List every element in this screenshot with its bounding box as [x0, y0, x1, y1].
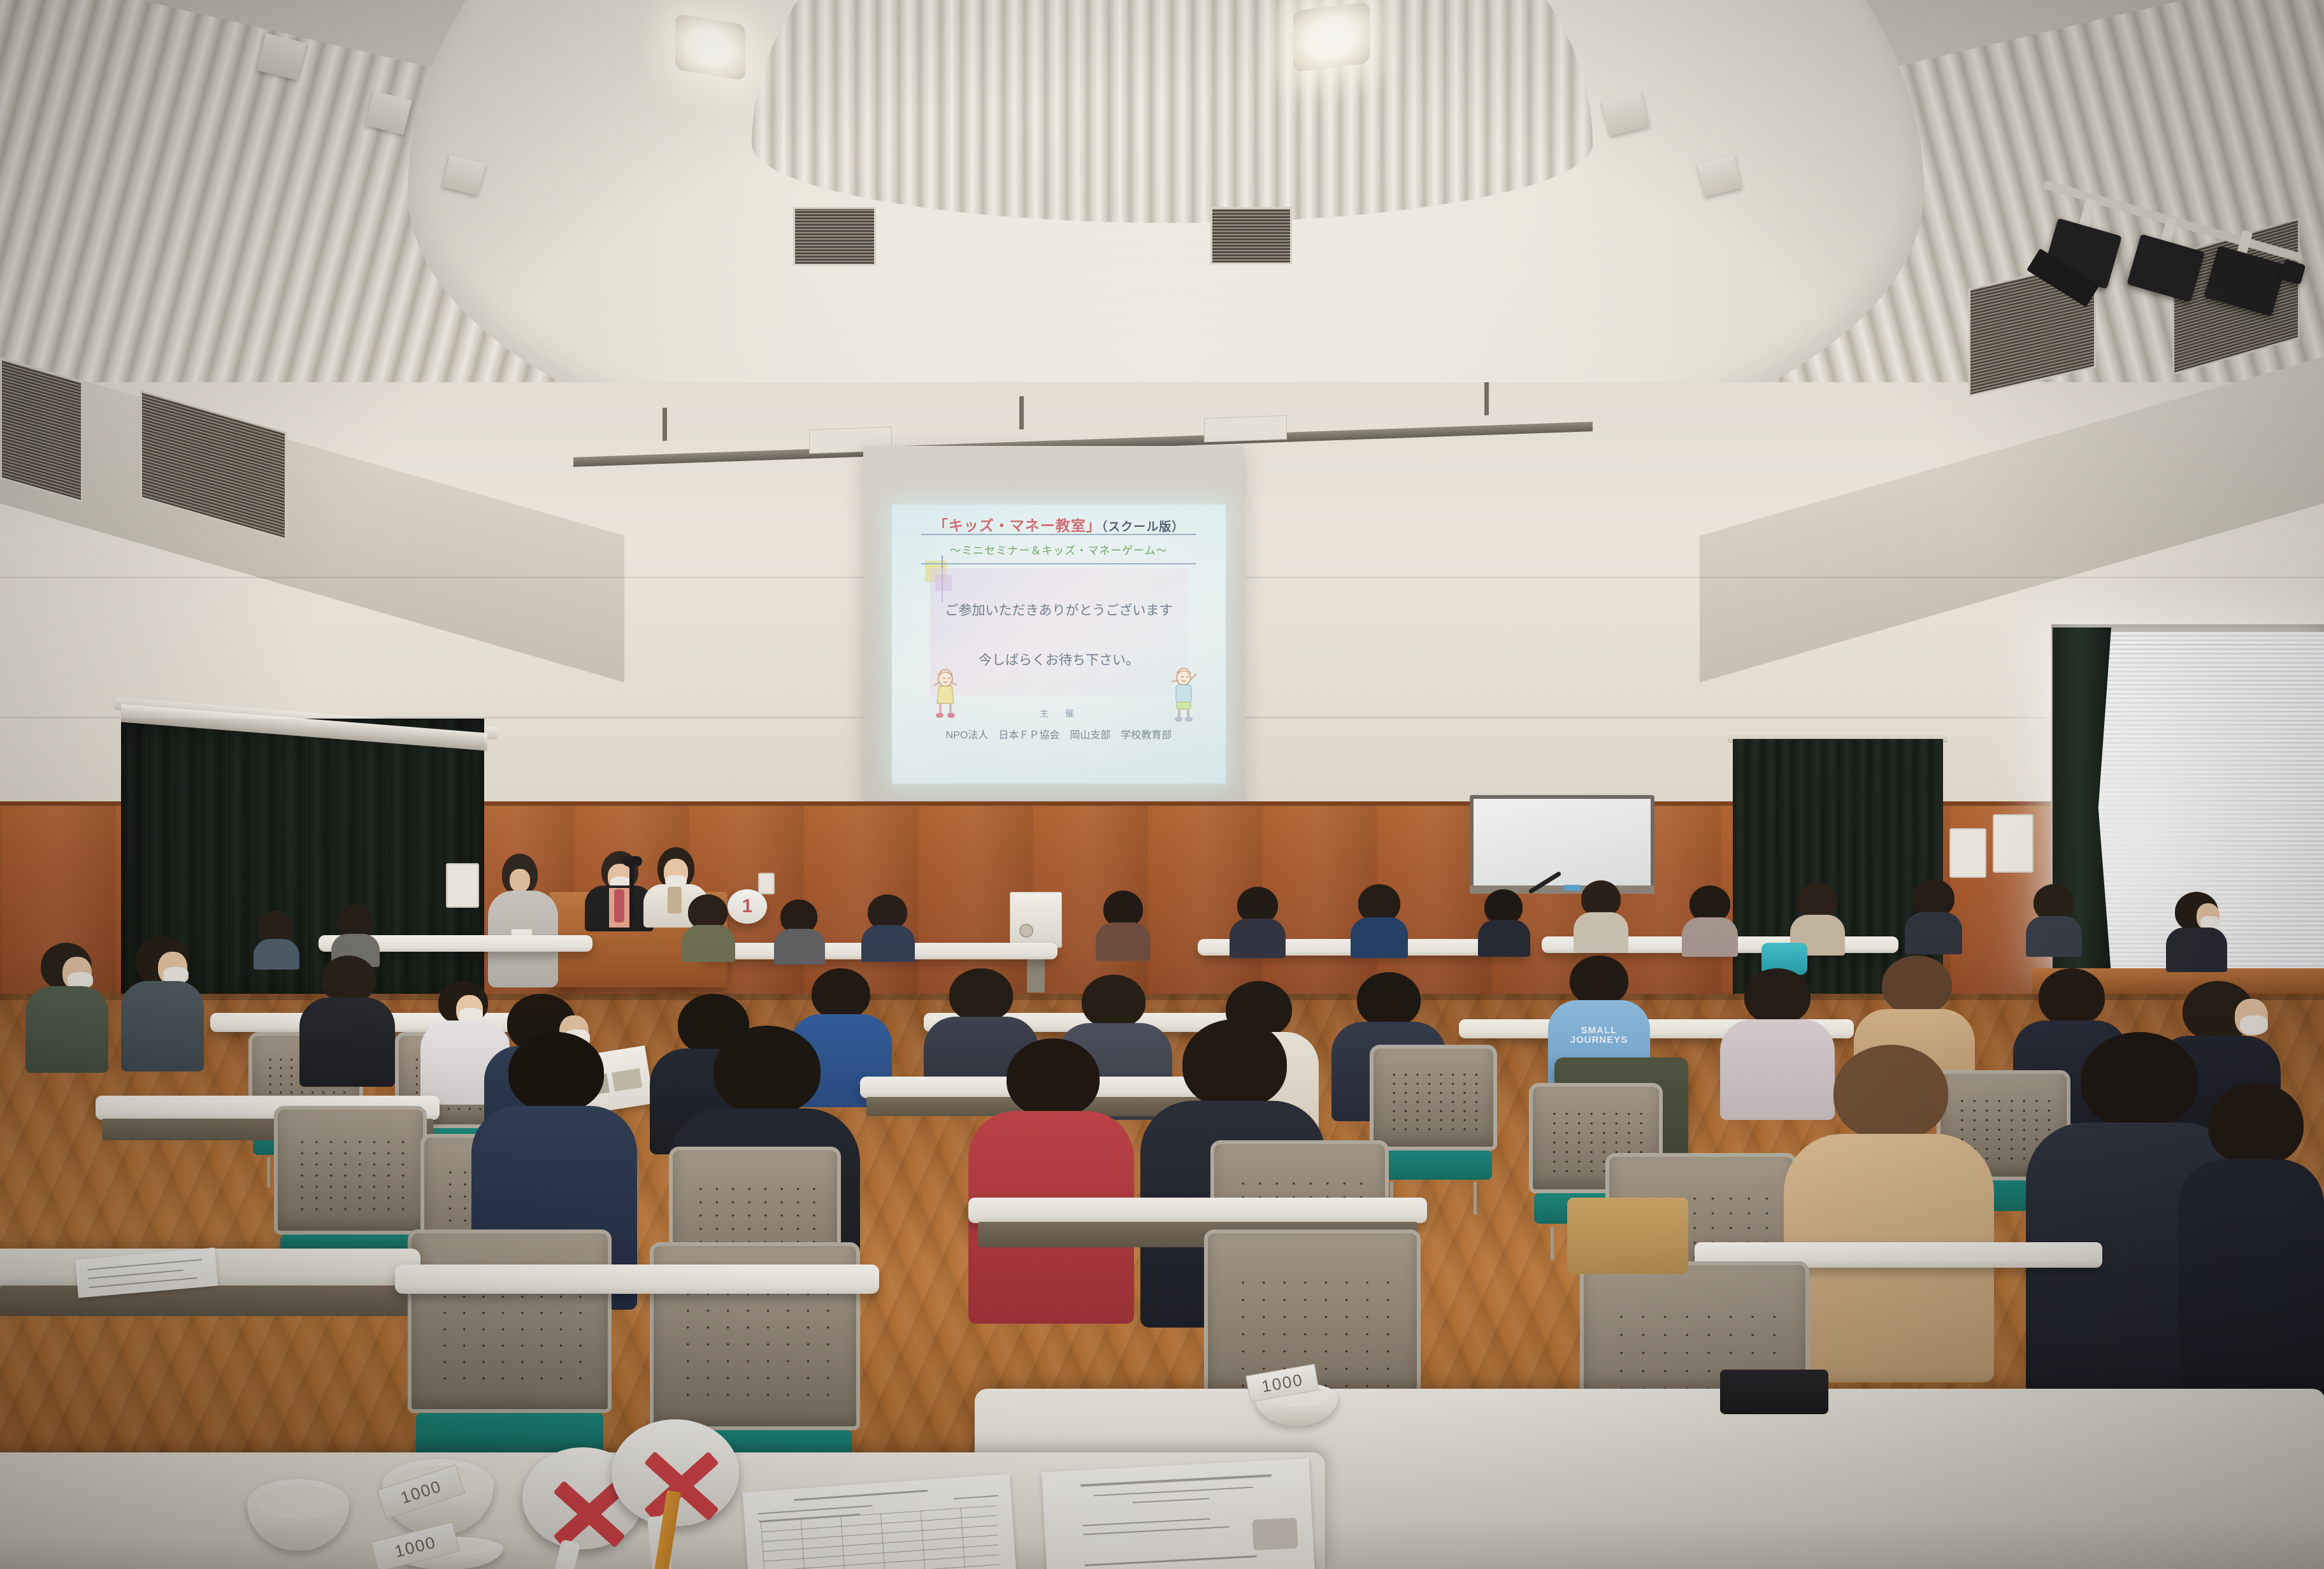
audience-member [1574, 880, 1628, 947]
audience-member [121, 936, 204, 1070]
seminar-handout[interactable] [1042, 1458, 1316, 1569]
audience-member [1230, 887, 1286, 950]
ceiling-light-icon [1293, 2, 1370, 73]
microphone-stand[interactable] [629, 861, 634, 920]
audience-member [1905, 879, 1962, 948]
slide-rule [921, 534, 1196, 535]
slide-organizer: NPO法人 日本ＦＰ協会 岡山支部 学校教育部 [892, 726, 1226, 742]
spotlight-icon [2127, 234, 2205, 302]
wall-vent-grille [793, 207, 876, 266]
audience-member-child [968, 1038, 1134, 1319]
rail-post [1484, 382, 1489, 415]
wall-vent-grille [0, 357, 83, 502]
table [968, 1198, 1427, 1223]
ceiling-light-icon [675, 13, 745, 80]
lanyard [614, 889, 624, 922]
audience-member [331, 905, 380, 959]
slide-title-suffix: （スクール版） [1101, 520, 1185, 534]
slide-title: 「キッズ・マネー教室」（スクール版） [892, 513, 1226, 535]
rail-bracket [1204, 415, 1287, 443]
handbag [1567, 1198, 1688, 1274]
tablet-case [1720, 1370, 1828, 1414]
handout-illustration [1252, 1517, 1298, 1551]
slide-title-main: 「キッズ・マネー教室」 [933, 517, 1101, 534]
paddle-number: 1 [728, 889, 767, 924]
slide-rule [921, 563, 1196, 564]
amplifier-dial[interactable] [1019, 924, 1033, 938]
audience-member [254, 911, 299, 962]
chair[interactable] [1370, 1045, 1497, 1191]
audio-amplifier[interactable] [1010, 892, 1062, 948]
whiteboard[interactable] [1474, 799, 1651, 885]
ceiling-ribs-crown [752, 0, 1593, 223]
spotlight-icon [2204, 245, 2286, 316]
wall-vent-grille [1210, 207, 1292, 264]
answer-paddle-x[interactable] [612, 1419, 752, 1553]
audience-member [1096, 891, 1151, 954]
audience-member [774, 899, 825, 958]
audience-member [1784, 1045, 1994, 1376]
rail-post [663, 408, 667, 441]
slide-host-label: 主 催 [892, 707, 1226, 720]
audience-member [25, 943, 108, 1070]
wall-control-panel[interactable] [1949, 828, 1986, 878]
microphone-icon[interactable] [623, 856, 642, 866]
audience-member [1478, 889, 1530, 950]
audience-member [2026, 884, 2082, 952]
audience-member [861, 894, 915, 956]
presenter-1 [488, 854, 558, 987]
projected-slide: 「キッズ・マネー教室」（スクール版） ～ミニセミナー＆キッズ・マネーゲーム～ ご… [892, 505, 1226, 784]
slide-subtitle: ～ミニセミナー＆キッズ・マネーゲーム～ [892, 541, 1226, 557]
slide-content-panel [930, 568, 1187, 696]
hall-photograph: 「キッズ・マネー教室」（スクール版） ～ミニセミナー＆キッズ・マネーゲーム～ ご… [0, 0, 2324, 1569]
rail-post [1019, 396, 1024, 429]
audience-member [1790, 883, 1845, 949]
audience-member [299, 956, 395, 1083]
hoodie-print: SMALL JOURNEYS [1563, 1024, 1635, 1046]
table-apron [0, 1286, 408, 1316]
audience-member [1682, 885, 1738, 950]
wall-control-panel[interactable] [1993, 814, 2033, 873]
audience-member [1351, 884, 1408, 950]
answer-paddle[interactable]: 1 [728, 889, 771, 929]
table [395, 1265, 879, 1294]
slide-message-line-1: ご参加いただきありがとうございます [892, 600, 1226, 619]
lanyard [668, 887, 682, 913]
audience-member [2166, 892, 2227, 967]
wall-control-panel[interactable] [446, 863, 479, 908]
